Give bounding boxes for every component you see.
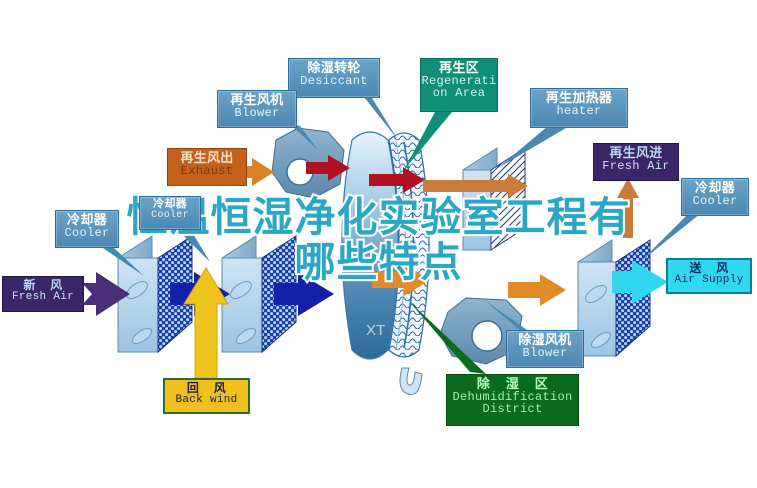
label-cn-air-supply: 送 风 (668, 262, 750, 275)
svg-text:XT: XT (366, 322, 385, 339)
label-cooler-right: 冷却器Cooler (681, 178, 749, 216)
label-cn-cooler-upper: 冷却器 (140, 199, 200, 211)
regeneration-heater-coil (463, 148, 525, 250)
label-en-air-supply: Air Supply (668, 275, 750, 287)
label-back-wind: 回 风Back wind (163, 378, 250, 414)
label-cn-regeneration-heater: 再生加热器 (531, 91, 627, 105)
label-cooler-upper: 冷却器Cooler (139, 196, 201, 230)
label-regeneration-exhaust: 再生风出Exhaust (167, 148, 247, 186)
regen-fresh-air-up-arrow (617, 178, 639, 238)
label-en-regeneration-blower: Blower (218, 107, 296, 120)
dehumidifier-diagram: XT (0, 0, 757, 488)
label-cn-regeneration-fresh-air-inlet: 再生风进 (594, 146, 678, 160)
label-en-regeneration-exhaust: Exhaust (168, 165, 246, 178)
label-cn-regeneration-blower: 再生风机 (218, 93, 296, 107)
label-regeneration-heater: 再生加热器heater (530, 88, 628, 128)
label-cn-regeneration-exhaust: 再生风出 (168, 151, 246, 165)
label-cn-back-wind: 回 风 (165, 382, 248, 395)
label-cn-fresh-air-inlet: 新 风 (3, 279, 83, 292)
label-dehumidification-district: 除 湿 区Dehumidification District (446, 374, 579, 426)
label-cn-dehumid-blower: 除湿风机 (507, 333, 583, 347)
label-en-cooler-left: Cooler (56, 227, 118, 240)
label-dehumid-blower: 除湿风机Blower (506, 330, 584, 368)
label-fresh-air-inlet: 新 风Fresh Air (2, 276, 84, 312)
label-en-fresh-air-inlet: Fresh Air (3, 292, 83, 304)
label-regeneration-area: 再生区Regenerati on Area (420, 58, 498, 112)
label-cn-cooler-right: 冷却器 (682, 181, 748, 195)
label-en-regeneration-heater: heater (531, 105, 627, 118)
desiccant-rotor: XT (342, 132, 434, 395)
label-en-cooler-upper: Cooler (140, 211, 200, 222)
dehumid-out-arrow-2 (508, 274, 566, 306)
label-cooler-left: 冷却器Cooler (55, 210, 119, 248)
label-cn-regeneration-area: 再生区 (421, 61, 497, 75)
label-air-supply: 送 风Air Supply (666, 258, 752, 294)
label-cn-dehumidification-district: 除 湿 区 (447, 377, 578, 391)
label-en-desiccant-wheel: Desiccant (289, 75, 379, 88)
label-en-back-wind: Back wind (165, 395, 248, 407)
label-cn-desiccant-wheel: 除湿转轮 (289, 61, 379, 75)
label-en-regeneration-fresh-air-inlet: Fresh Air (594, 160, 678, 173)
label-en-dehumid-blower: Blower (507, 347, 583, 360)
label-cn-cooler-left: 冷却器 (56, 213, 118, 227)
label-en-regeneration-area: Regenerati on Area (421, 75, 497, 100)
label-regeneration-fresh-air-inlet: 再生风进Fresh Air (593, 143, 679, 181)
label-desiccant-wheel: 除湿转轮Desiccant (288, 58, 380, 98)
label-en-cooler-right: Cooler (682, 195, 748, 208)
label-regeneration-blower: 再生风机Blower (217, 90, 297, 128)
label-en-dehumidification-district: Dehumidification District (447, 391, 578, 416)
